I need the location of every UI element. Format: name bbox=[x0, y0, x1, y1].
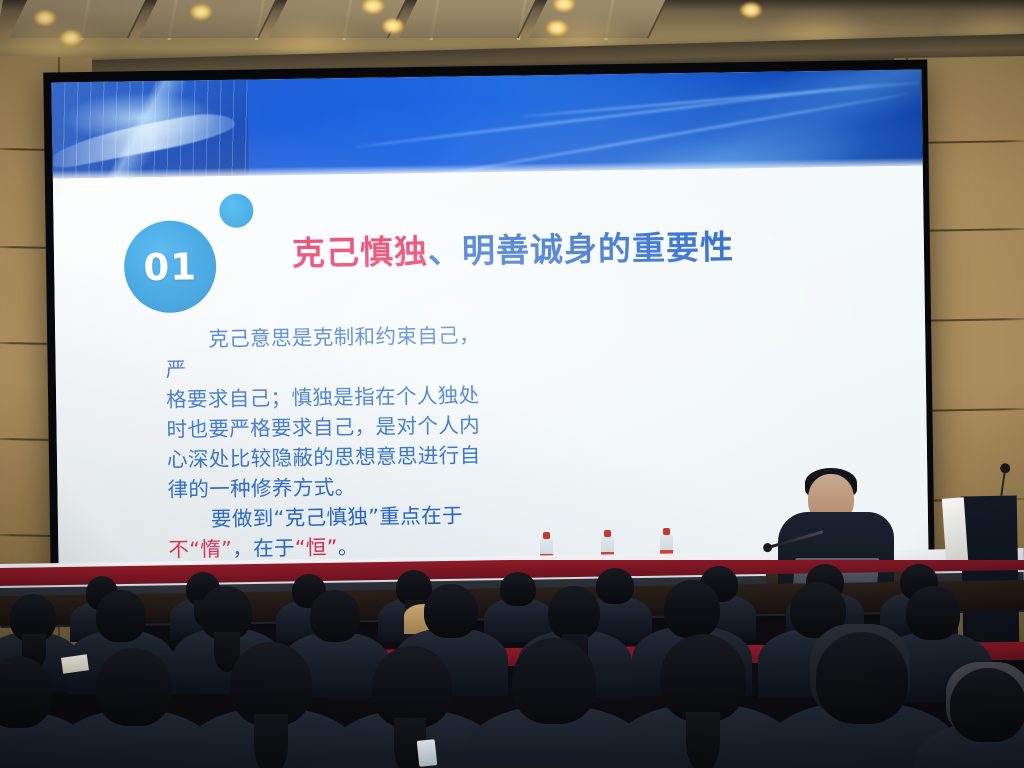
ceiling-downlight bbox=[60, 30, 82, 46]
band-wave bbox=[416, 93, 909, 179]
paragraph-1-line-3: 时也要严格要求自己，是对个人内 bbox=[166, 410, 496, 445]
paragraph-2-line-1: 要做到“克己慎独”重点在于 bbox=[168, 500, 498, 535]
slide-header-band bbox=[51, 70, 922, 179]
slide-title-red-part: 克己慎独 bbox=[292, 232, 429, 273]
slide-number-badge-group: 01 bbox=[115, 193, 287, 316]
presentation-photo-scene: 01 克己慎独、明善诚身的重要性 克己意思是克制和约束自己，严 格要求自己；慎独… bbox=[0, 0, 1024, 768]
paragraph-1-line-2: 格要求自己；慎独是指在个人独处 bbox=[166, 380, 496, 415]
paragraph-1-line-5: 律的一种修养方式。 bbox=[167, 470, 497, 505]
audience-phone bbox=[417, 739, 438, 767]
audience bbox=[0, 560, 1024, 768]
ceiling-panel bbox=[399, 0, 541, 38]
train-shape bbox=[51, 108, 237, 171]
p2l2-e: 。 bbox=[338, 535, 359, 559]
p2l2-d: “恒” bbox=[295, 535, 338, 560]
ceiling-downlight bbox=[740, 2, 762, 18]
paragraph-1-line-4: 心深处比较隐蔽的思想意思进行自 bbox=[167, 440, 497, 475]
slide-title: 克己慎独、明善诚身的重要性 bbox=[292, 220, 735, 275]
p2l2-b: “惰” bbox=[189, 537, 232, 562]
p2l1-text: 要做到“克己慎独”重点在于 bbox=[211, 503, 463, 531]
slide-number-badge: 01 bbox=[123, 220, 216, 313]
podium-paper bbox=[942, 497, 968, 562]
ceiling-downlight bbox=[382, 18, 404, 34]
p1l1-text: 克己意思是克制和约束自己，严 bbox=[166, 323, 481, 382]
slide-header-photo bbox=[51, 80, 248, 179]
band-wave bbox=[354, 82, 890, 148]
p2l2-c: ，在于 bbox=[232, 536, 295, 561]
p2l2-a: 不 bbox=[168, 537, 189, 561]
band-wave bbox=[522, 82, 921, 118]
accent-dot-icon bbox=[219, 193, 254, 228]
slide-title-blue-part: 、明善诚身的重要性 bbox=[428, 227, 735, 271]
slide-paragraphs: 克己意思是克制和约束自己，严 格要求自己；慎独是指在个人独处 时也要严格要求自己… bbox=[165, 320, 499, 565]
ceiling-downlight bbox=[546, 20, 568, 36]
ceiling-downlight bbox=[190, 4, 212, 20]
slide-number-text: 01 bbox=[143, 245, 197, 289]
paragraph-1-line-1: 克己意思是克制和约束自己，严 bbox=[165, 320, 496, 385]
ceiling-downlight bbox=[34, 10, 56, 26]
